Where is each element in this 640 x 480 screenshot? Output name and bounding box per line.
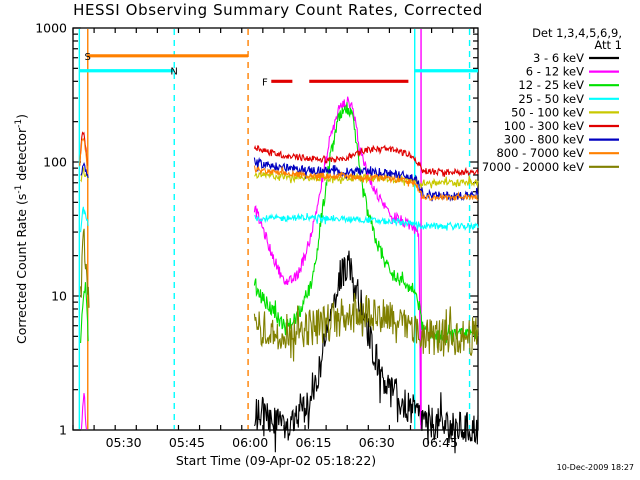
legend: Det 1,3,4,5,6,9,Att 13 - 6 keV6 - 12 keV…: [482, 26, 622, 174]
hessi-count-rate-plot: HESSI Observing Summary Count Rates, Cor…: [0, 0, 640, 480]
x-tick-label: 05:45: [169, 435, 205, 450]
series-50-100-kev: [81, 167, 478, 188]
series-path: [81, 393, 86, 430]
event-flag-s: S: [84, 52, 90, 63]
legend-label: 7000 - 20000 keV: [482, 160, 584, 174]
series-path: [254, 97, 420, 425]
plot-canvas: HESSI Observing Summary Count Rates, Cor…: [0, 0, 640, 480]
legend-header-attenuator: Att 1: [594, 38, 622, 52]
series-25-50-kev: [81, 207, 478, 232]
legend-label: 12 - 25 keV: [518, 78, 584, 92]
legend-label: 300 - 800 keV: [504, 133, 584, 147]
series-path: [81, 207, 89, 232]
legend-label: 800 - 7000 keV: [496, 146, 584, 160]
page-title: HESSI Observing Summary Count Rates, Cor…: [73, 1, 483, 19]
status-bars-layer: [79, 56, 478, 82]
x-axis-tick-labels: 05:3005:4506:0006:1506:3006:45: [106, 435, 458, 450]
x-tick-label: 06:00: [232, 435, 268, 450]
event-vertical-lines: [79, 29, 469, 429]
legend-label: 100 - 300 keV: [504, 119, 584, 133]
series-6-12-kev: [81, 97, 420, 430]
legend-label: 3 - 6 keV: [533, 51, 584, 65]
generation-timestamp: 10-Dec-2009 18:27: [557, 463, 634, 472]
y-tick-label: 1: [59, 423, 67, 438]
y-axis-label-text: Corrected Count Rate (s-1 detector-1): [14, 114, 29, 344]
legend-label: 6 - 12 keV: [526, 65, 584, 79]
y-axis-label: Corrected Count Rate (s-1 detector-1): [14, 114, 29, 344]
data-series-layer: [80, 97, 478, 454]
y-tick-label: 100: [43, 155, 67, 170]
x-tick-label: 05:30: [106, 435, 142, 450]
title-group: HESSI Observing Summary Count Rates, Cor…: [73, 1, 483, 19]
x-axis-label-text: Start Time (09-Apr-02 05:18:22): [176, 453, 376, 468]
series-path: [254, 293, 478, 361]
legend-label: 50 - 100 keV: [511, 105, 584, 119]
event-flag-f: F: [262, 77, 268, 88]
x-tick-label: 06:30: [359, 435, 395, 450]
series-100-300-kev: [80, 133, 478, 177]
y-tick-label: 1000: [35, 21, 67, 36]
y-tick-label: 10: [51, 289, 67, 304]
y-axis-tick-labels: 1101001000: [35, 21, 67, 438]
event-flag-n: N: [170, 67, 177, 78]
legend-label: 25 - 50 keV: [518, 92, 584, 106]
series-path: [254, 213, 478, 230]
x-tick-label: 06:15: [295, 435, 331, 450]
